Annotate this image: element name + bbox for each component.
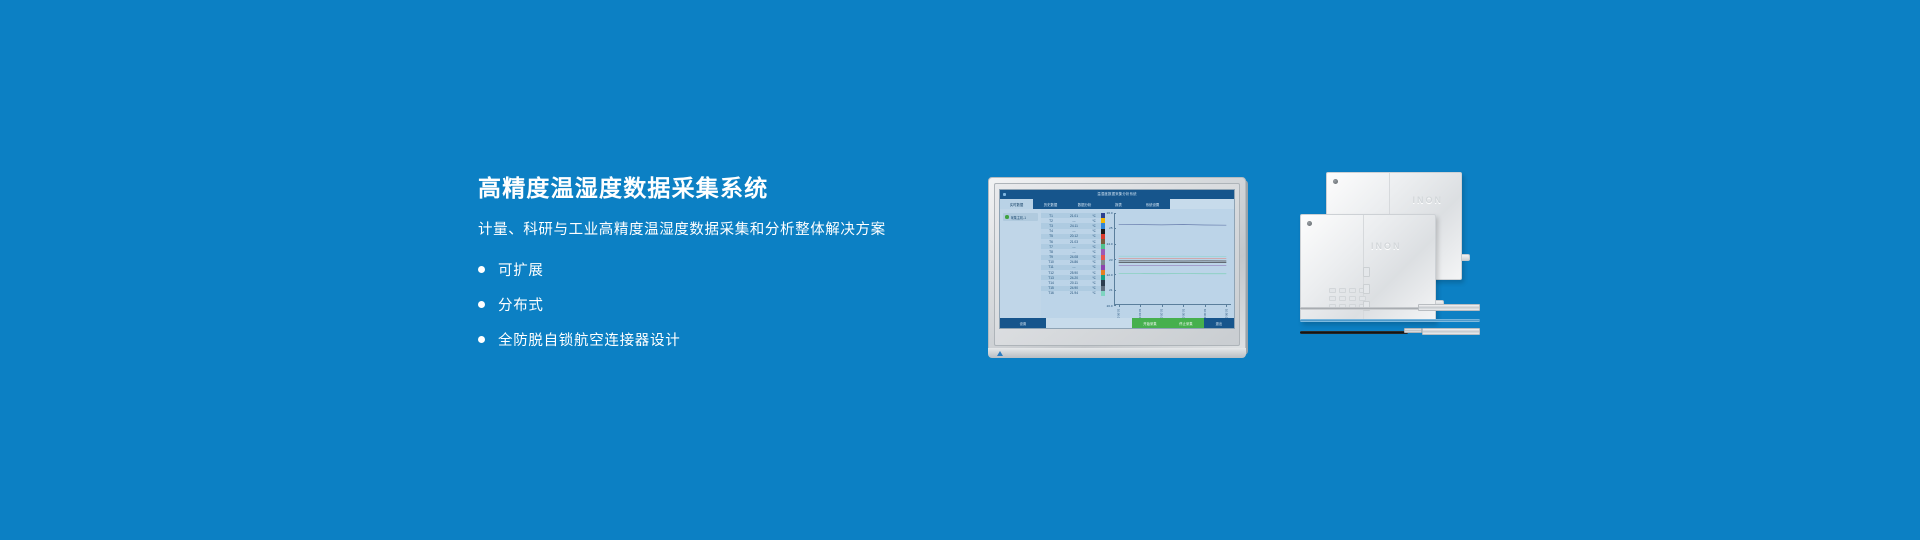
tab-report[interactable]: 报表 bbox=[1102, 199, 1136, 209]
table-cell: 21.94 bbox=[1061, 291, 1087, 295]
app-body: 采集主机-1 T121.01℃T2---℃T324.11℃T4---℃T520.… bbox=[1000, 209, 1234, 318]
table-cell: T4 bbox=[1041, 229, 1061, 233]
app-titlebar: 温湿度数据采集分析系统 bbox=[1000, 190, 1234, 199]
hero-text-block: 高精度温湿度数据采集系统 计量、科研与工业高精度温湿度数据采集和分析整体解决方案… bbox=[478, 175, 948, 350]
sensor-probe-black bbox=[1300, 328, 1480, 337]
page-subtitle: 计量、科研与工业高精度温湿度数据采集和分析整体解决方案 bbox=[478, 218, 948, 239]
probe-cable bbox=[1300, 319, 1480, 322]
y-axis-label: 26.0 bbox=[1107, 211, 1113, 215]
key-cell bbox=[1329, 296, 1336, 301]
screw-icon bbox=[1333, 179, 1338, 184]
y-axis-label: 20.0 bbox=[1107, 304, 1113, 308]
tab-history-data[interactable]: 历史数据 bbox=[1034, 199, 1068, 209]
table-cell: T14 bbox=[1041, 281, 1061, 285]
table-cell: ℃ bbox=[1087, 271, 1101, 275]
table-row[interactable]: T1324.20℃ bbox=[1041, 275, 1101, 280]
probe-ferrule bbox=[1404, 328, 1422, 333]
bullet-dot-icon bbox=[478, 266, 485, 273]
page-title: 高精度温湿度数据采集系统 bbox=[478, 175, 948, 201]
app-footer-bar: 设置 开始采集 停止采集 退出 bbox=[1000, 318, 1234, 328]
key-cell bbox=[1349, 296, 1356, 301]
table-cell: T5 bbox=[1041, 234, 1061, 238]
key-cell bbox=[1329, 288, 1336, 293]
table-cell: --- bbox=[1061, 250, 1087, 254]
table-row[interactable]: T1420.11℃ bbox=[1041, 280, 1101, 285]
x-axis-tick: 10:40:00 bbox=[1205, 305, 1206, 307]
key-cell bbox=[1339, 288, 1346, 293]
table-cell: 21.03 bbox=[1061, 240, 1087, 244]
list-item: 分布式 bbox=[478, 294, 948, 315]
table-row[interactable]: T1524.90℃ bbox=[1041, 286, 1101, 291]
table-row[interactable]: T1621.94℃ bbox=[1041, 291, 1101, 296]
y-axis-label: 25 bbox=[1109, 226, 1112, 230]
feature-list: 可扩展 分布式 全防脱自锁航空连接器设计 bbox=[478, 259, 948, 350]
table-row[interactable]: T520.12℃ bbox=[1041, 234, 1101, 239]
table-cell: 24.90 bbox=[1061, 286, 1087, 290]
probe-cable bbox=[1300, 307, 1422, 310]
list-item: 可扩展 bbox=[478, 259, 948, 280]
table-cell: ℃ bbox=[1087, 260, 1101, 264]
table-row[interactable]: T1024.86℃ bbox=[1041, 260, 1101, 265]
sensor-probe-steel bbox=[1300, 304, 1480, 312]
table-cell: 20.11 bbox=[1061, 281, 1087, 285]
brand-label: INON bbox=[1371, 241, 1402, 251]
app-tab-bar: 实时数据 历史数据 数据分析 报表 系统设置 bbox=[1000, 199, 1234, 209]
table-cell: ℃ bbox=[1087, 281, 1101, 285]
table-cell: ℃ bbox=[1087, 234, 1101, 238]
table-cell: ℃ bbox=[1087, 250, 1101, 254]
table-cell: T11 bbox=[1041, 265, 1061, 269]
chart-plot-area: 26.02524.02322.02120.010:00:0010:10:0010… bbox=[1114, 213, 1231, 305]
monitor-screen: 温湿度数据采集分析系统 实时数据 历史数据 数据分析 报表 系统设置 采集主机-… bbox=[999, 189, 1235, 329]
table-cell: ℃ bbox=[1087, 291, 1101, 295]
table-cell: 24.08 bbox=[1061, 255, 1087, 259]
table-cell: ℃ bbox=[1087, 276, 1101, 280]
table-cell: T2 bbox=[1041, 219, 1061, 223]
table-cell: 24.11 bbox=[1061, 224, 1087, 228]
table-cell: ℃ bbox=[1087, 219, 1101, 223]
tab-system-settings[interactable]: 系统设置 bbox=[1136, 199, 1170, 209]
tab-data-analysis[interactable]: 数据分析 bbox=[1068, 199, 1102, 209]
y-axis-label: 22.0 bbox=[1107, 273, 1113, 277]
table-row[interactable]: T7---℃ bbox=[1041, 244, 1101, 249]
table-row[interactable]: T2---℃ bbox=[1041, 218, 1101, 223]
table-cell: ℃ bbox=[1087, 240, 1101, 244]
table-row[interactable]: T4---℃ bbox=[1041, 229, 1101, 234]
table-cell: 21.01 bbox=[1061, 214, 1087, 218]
x-axis-tick: 10:10:00 bbox=[1140, 305, 1141, 307]
hardware-group: INON INON bbox=[1300, 172, 1480, 352]
table-row[interactable]: T924.08℃ bbox=[1041, 255, 1101, 260]
table-cell: T3 bbox=[1041, 224, 1061, 228]
table-cell: ℃ bbox=[1087, 214, 1101, 218]
x-axis-tick: 10:20:00 bbox=[1162, 305, 1163, 307]
table-row[interactable]: T8---℃ bbox=[1041, 249, 1101, 254]
sensor-probe-blue bbox=[1300, 318, 1480, 323]
tab-realtime-data[interactable]: 实时数据 bbox=[1000, 199, 1034, 209]
table-cell: T7 bbox=[1041, 245, 1061, 249]
connector-port bbox=[1363, 267, 1370, 277]
table-row[interactable]: T11---℃ bbox=[1041, 265, 1101, 270]
table-row[interactable]: T121.01℃ bbox=[1041, 213, 1101, 218]
table-cell: ℃ bbox=[1087, 229, 1101, 233]
trend-chart[interactable]: 26.02524.02322.02120.010:00:0010:10:0010… bbox=[1105, 209, 1234, 318]
probe-tip bbox=[1422, 328, 1480, 335]
table-cell: 24.86 bbox=[1061, 260, 1087, 264]
y-axis-tick: 20.0 bbox=[1114, 305, 1116, 306]
table-row[interactable]: T1225.90℃ bbox=[1041, 270, 1101, 275]
sidebar-item-label: 采集主机-1 bbox=[1011, 215, 1027, 220]
table-cell: --- bbox=[1061, 219, 1087, 223]
table-cell: --- bbox=[1061, 265, 1087, 269]
connector-port bbox=[1363, 284, 1370, 294]
app-window-title: 温湿度数据采集分析系统 bbox=[1000, 190, 1234, 199]
start-acquisition-button[interactable]: 开始采集 bbox=[1132, 318, 1168, 328]
bullet-dot-icon bbox=[478, 336, 485, 343]
monitor-base bbox=[988, 348, 1246, 358]
table-cell: --- bbox=[1061, 229, 1087, 233]
table-cell: 20.12 bbox=[1061, 234, 1087, 238]
y-axis-label: 24.0 bbox=[1107, 242, 1113, 246]
screw-icon bbox=[1307, 221, 1312, 226]
status-online-icon bbox=[1005, 215, 1009, 219]
bullet-dot-icon bbox=[478, 301, 485, 308]
tab-bar-filler bbox=[1170, 199, 1234, 209]
table-cell: T12 bbox=[1041, 271, 1061, 275]
feature-label: 分布式 bbox=[498, 294, 544, 315]
chart-series-T16 bbox=[1114, 213, 1231, 305]
table-row[interactable]: T621.03℃ bbox=[1041, 239, 1101, 244]
table-cell: ℃ bbox=[1087, 245, 1101, 249]
table-cell: ℃ bbox=[1087, 255, 1101, 259]
key-cell bbox=[1349, 288, 1356, 293]
brand-label: INON bbox=[1413, 195, 1444, 205]
x-axis-tick: 10:30:00 bbox=[1183, 305, 1184, 307]
panel-monitor: 温湿度数据采集分析系统 实时数据 历史数据 数据分析 报表 系统设置 采集主机-… bbox=[988, 177, 1250, 358]
stop-acquisition-button[interactable]: 停止采集 bbox=[1168, 318, 1204, 328]
table-cell: T9 bbox=[1041, 255, 1061, 259]
y-axis-label: 23 bbox=[1109, 258, 1112, 262]
table-row[interactable]: T324.11℃ bbox=[1041, 223, 1101, 228]
feature-label: 全防脱自锁航空连接器设计 bbox=[498, 329, 680, 350]
feature-label: 可扩展 bbox=[498, 259, 544, 280]
x-axis-tick: 10:00:00 bbox=[1119, 305, 1120, 307]
table-cell: T1 bbox=[1041, 214, 1061, 218]
y-axis-label: 21 bbox=[1109, 288, 1112, 292]
table-cell: T10 bbox=[1041, 260, 1061, 264]
probe-tip bbox=[1418, 304, 1480, 311]
table-cell: --- bbox=[1061, 245, 1087, 249]
table-cell: T16 bbox=[1041, 291, 1061, 295]
table-cell: ℃ bbox=[1087, 286, 1101, 290]
footer-spacer bbox=[1046, 318, 1132, 328]
sidebar-item-host[interactable]: 采集主机-1 bbox=[1003, 213, 1038, 221]
x-axis-tick: 10:50:00 bbox=[1226, 305, 1227, 307]
table-cell: T6 bbox=[1041, 240, 1061, 244]
table-cell: 25.90 bbox=[1061, 271, 1087, 275]
key-cell bbox=[1339, 296, 1346, 301]
table-cell: T15 bbox=[1041, 286, 1061, 290]
channel-table[interactable]: T121.01℃T2---℃T324.11℃T4---℃T520.12℃T621… bbox=[1041, 209, 1101, 318]
table-cell: T13 bbox=[1041, 276, 1061, 280]
exit-button[interactable]: 退出 bbox=[1204, 318, 1234, 328]
device-tree-sidebar: 采集主机-1 bbox=[1000, 209, 1041, 318]
table-cell: ℃ bbox=[1087, 224, 1101, 228]
table-cell: ℃ bbox=[1087, 265, 1101, 269]
mount-tab bbox=[1461, 254, 1470, 261]
settings-button[interactable]: 设置 bbox=[1000, 318, 1046, 328]
table-cell: 24.20 bbox=[1061, 276, 1087, 280]
list-item: 全防脱自锁航空连接器设计 bbox=[478, 329, 948, 350]
probe-cable bbox=[1300, 331, 1408, 334]
table-cell: T8 bbox=[1041, 250, 1061, 254]
